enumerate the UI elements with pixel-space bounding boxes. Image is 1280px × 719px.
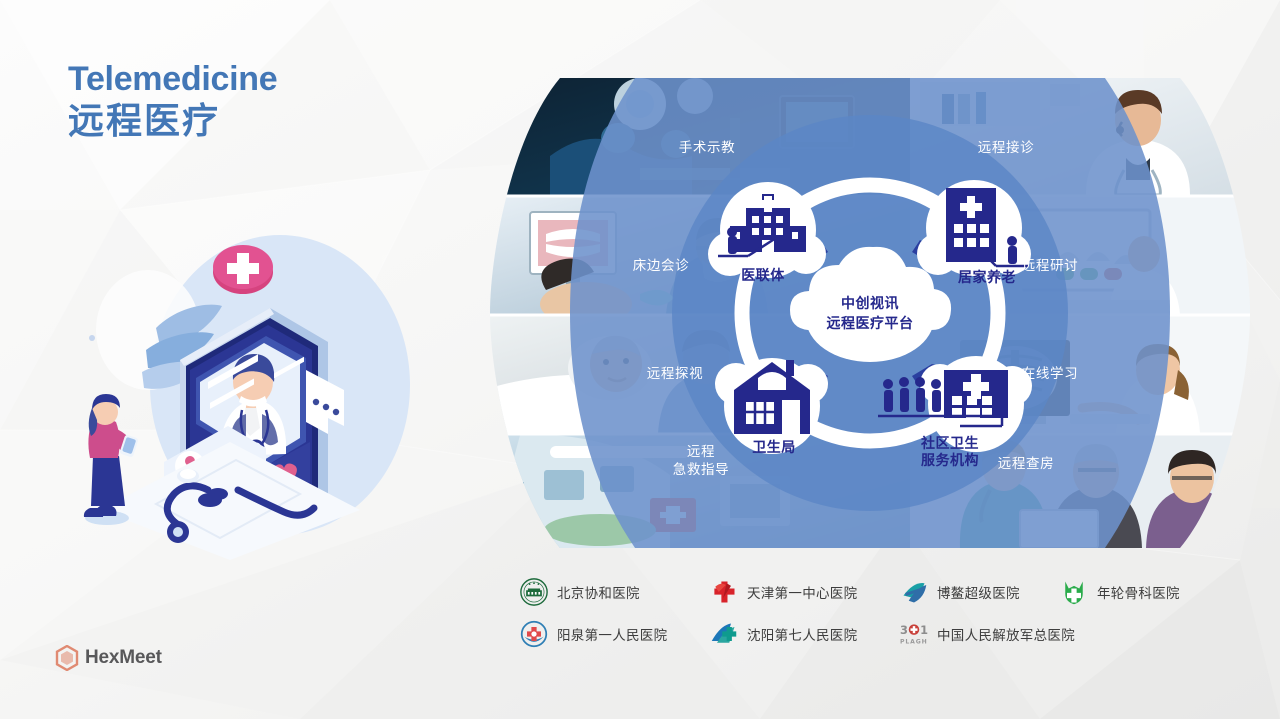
plagh-301-logo: 3 1 PLAGH: [900, 620, 928, 648]
partner-yangquan-first[interactable]: 阳泉第一人民医院: [520, 620, 710, 648]
slide-canvas: Telemedicine 远程医疗: [0, 0, 1280, 719]
slide-title-block: Telemedicine 远程医疗: [68, 62, 277, 142]
hexagon-icon: [55, 645, 79, 671]
title-chinese: 远程医疗: [68, 100, 277, 142]
medical-cross-badge: [213, 245, 273, 294]
partner-name: 沈阳第七人民医院: [747, 624, 857, 644]
partner-shenyang-seventh[interactable]: 沈阳第七人民医院: [710, 620, 900, 648]
partner-plagh[interactable]: 3 1 PLAGH 中国人民解放军总医院: [900, 620, 1130, 648]
partner-name: 天津第一中心医院: [747, 582, 857, 602]
yangquan-first-circle-logo: [520, 620, 548, 648]
svg-text:PLAGH: PLAGH: [900, 639, 928, 646]
partner-pumch[interactable]: 北京协和医院: [520, 578, 710, 606]
partner-row-2: 阳泉第一人民医院 沈阳第七人民医院 3 1 PLAGH 中国人民解: [520, 620, 1220, 648]
partner-name: 中国人民解放军总医院: [937, 624, 1075, 644]
partner-name: 年轮骨科医院: [1097, 582, 1180, 602]
title-english: Telemedicine: [68, 62, 277, 98]
partner-nianlun[interactable]: 年轮骨科医院: [1060, 578, 1220, 606]
partner-boao[interactable]: 博鳌超级医院: [900, 578, 1060, 606]
partner-name: 博鳌超级医院: [937, 582, 1020, 602]
boao-super-hospital-logo: [900, 578, 928, 606]
partner-tianjin-first[interactable]: 天津第一中心医院: [710, 578, 900, 606]
partner-name: 阳泉第一人民医院: [557, 624, 667, 644]
svg-text:3: 3: [900, 623, 908, 637]
tianjin-first-cross-logo: [710, 578, 738, 606]
hexmeet-logo: HexMeet: [55, 645, 162, 671]
partner-hospitals: 北京协和医院 天津第一中心医院 博鳌超级医院: [520, 578, 1220, 662]
partner-row-1: 北京协和医院 天津第一中心医院 博鳌超级医院: [520, 578, 1220, 606]
telemedicine-isometric-illustration: [60, 210, 420, 560]
pumch-crest-logo: [520, 578, 548, 606]
hexmeet-wordmark: HexMeet: [85, 647, 162, 669]
shenyang-seventh-logo: [710, 620, 738, 648]
nianlun-shield-logo: [1060, 578, 1088, 606]
partner-name: 北京协和医院: [557, 582, 640, 602]
telemedicine-platform-diagram: [490, 78, 1250, 548]
svg-text:1: 1: [920, 623, 928, 637]
